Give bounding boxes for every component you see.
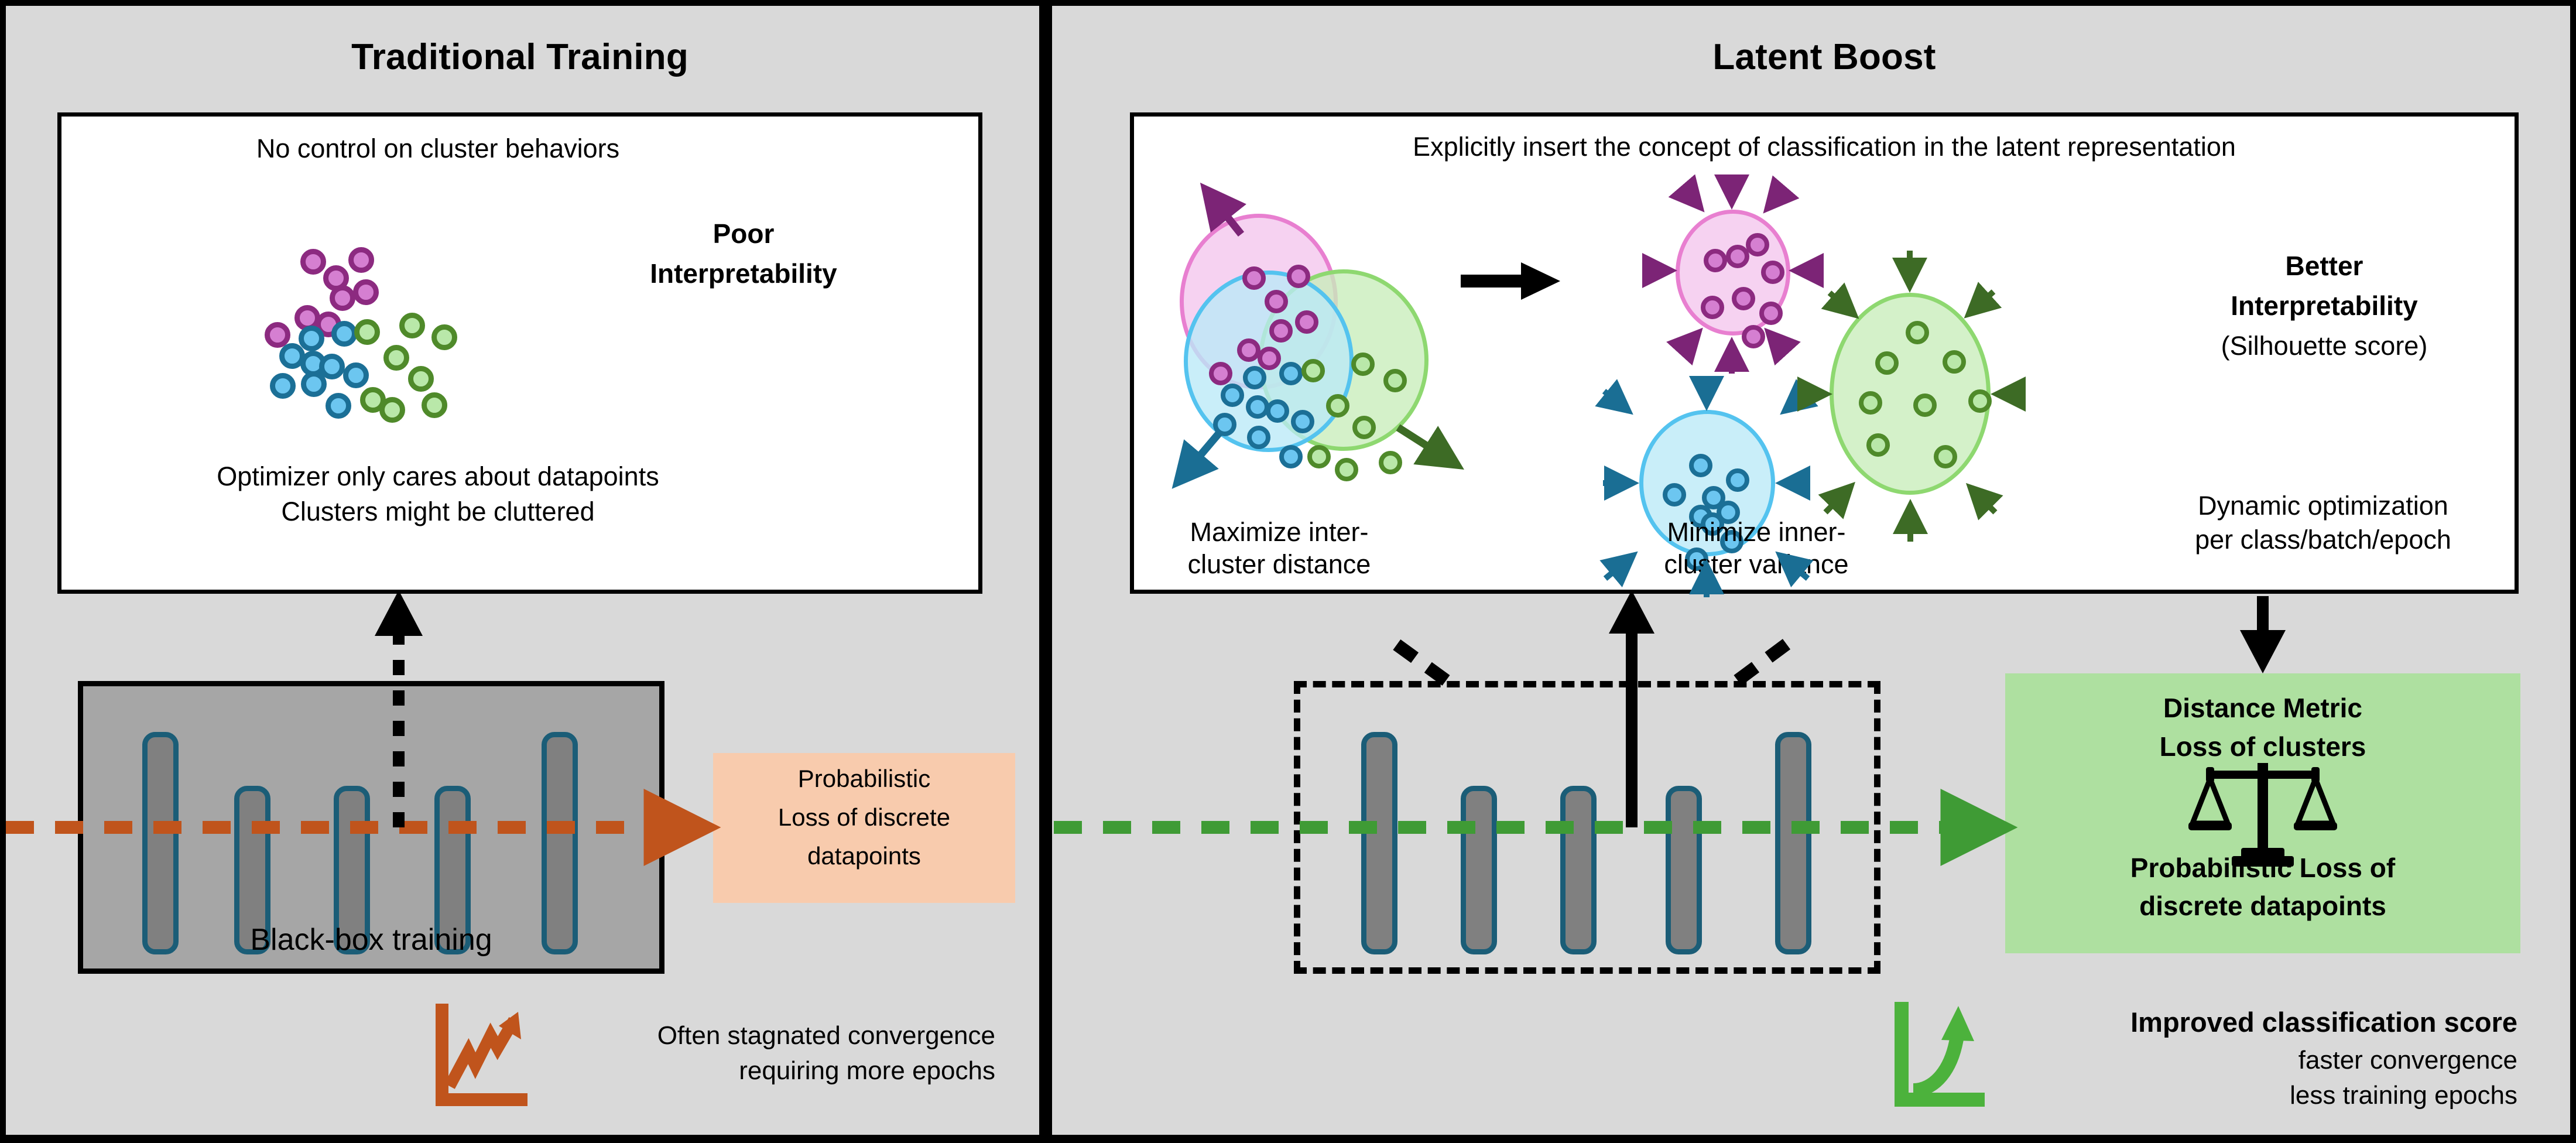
cluster-point xyxy=(1379,451,1402,474)
cluster-point xyxy=(1307,445,1331,468)
right-top-caption: Explicitly insert the concept of classif… xyxy=(1130,130,2519,165)
cluster-point xyxy=(1866,433,1890,457)
network-layer xyxy=(142,732,179,954)
cluster-point xyxy=(1209,362,1232,385)
better-interpretability-line2: Interpretability xyxy=(2137,289,2512,324)
cluster-point xyxy=(1287,265,1310,288)
improved-score-chart-icon xyxy=(1902,1006,1978,1100)
dynamic-optimization-down-arrow xyxy=(2240,596,2286,673)
frame-border-bottom xyxy=(0,1135,2576,1143)
scatter-dot xyxy=(270,373,296,399)
network-layer xyxy=(1361,732,1397,954)
cluster-point xyxy=(1352,416,1376,439)
maximize-label-line2: cluster distance xyxy=(1156,547,1402,582)
cluster-point xyxy=(1383,369,1407,392)
scatter-dot xyxy=(354,319,380,345)
cluster-point xyxy=(1279,445,1303,468)
network-layer xyxy=(1666,786,1702,954)
cluster-point xyxy=(1943,350,1966,374)
scatter-dot xyxy=(301,371,327,397)
cluster-point xyxy=(1351,353,1375,376)
network-layer xyxy=(1560,786,1597,954)
cluster-point xyxy=(1859,391,1882,415)
cluster-point xyxy=(1732,287,1755,310)
scatter-dot xyxy=(399,313,425,338)
dynamic-optimization-line1: Dynamic optimization xyxy=(2124,489,2522,523)
poor-interpretability-line1: Poor xyxy=(591,217,896,252)
black-box-training-label: Black-box training xyxy=(78,922,664,957)
maximize-label-line1: Maximize inter- xyxy=(1156,515,1402,550)
right-note-line2: faster convergence xyxy=(1979,1043,2517,1077)
probabilistic-loss-line1: Probabilistic xyxy=(713,765,1015,793)
scatter-dot xyxy=(300,249,326,275)
figure-root: Traditional Training No control on clust… xyxy=(0,0,2576,1143)
frame-border-left xyxy=(0,0,6,1143)
minimize-label-line2: cluster variance xyxy=(1604,547,1909,582)
cluster-point xyxy=(1759,302,1783,325)
network-layer xyxy=(542,732,578,954)
cluster-point xyxy=(1906,321,1929,344)
cluster-point xyxy=(1761,261,1784,284)
poor-interpretability-line2: Interpretability xyxy=(591,256,896,292)
probabilistic-loss-line4a: discrete datapoints xyxy=(2005,890,2520,922)
scatter-dot xyxy=(331,321,357,347)
cluster-point xyxy=(1221,384,1244,407)
scatter-dot xyxy=(299,326,324,351)
cluster-point xyxy=(1279,362,1303,385)
cluster-point xyxy=(1689,454,1712,477)
cluster-point xyxy=(1663,483,1686,507)
cluster-point xyxy=(1701,296,1724,319)
frame-border-top xyxy=(0,0,2576,6)
cluster-point xyxy=(1258,347,1281,370)
probabilistic-loss-line2: Loss of discrete xyxy=(713,803,1015,831)
cluster-point xyxy=(1295,310,1318,334)
right-note-line1: Improved classification score xyxy=(1979,1004,2517,1041)
cluster-point xyxy=(1301,359,1325,382)
cluster-point xyxy=(1247,426,1270,449)
panel-divider xyxy=(1039,0,1052,1143)
cluster-point xyxy=(1213,413,1236,436)
cluster-point xyxy=(1742,325,1765,348)
better-interpretability-line1: Better xyxy=(2137,249,2512,284)
cluster-point xyxy=(1335,458,1358,481)
cluster-point xyxy=(1269,319,1293,343)
cluster-point xyxy=(1726,468,1749,492)
cluster-point xyxy=(1746,233,1769,256)
network-layer xyxy=(1461,786,1497,954)
probabilistic-loss-line3a: Probabilistic Loss of xyxy=(2005,852,2520,884)
distance-metric-line2: Loss of clusters xyxy=(2005,731,2520,762)
left-top-caption: No control on cluster behaviors xyxy=(57,132,818,166)
scatter-dot xyxy=(326,393,351,419)
cluster-point xyxy=(1875,351,1899,375)
scatter-dot xyxy=(431,324,457,350)
cluster-point xyxy=(1243,366,1266,389)
left-panel-title: Traditional Training xyxy=(57,36,982,78)
cluster-point xyxy=(1265,290,1288,313)
minimize-label-line1: Minimize inner- xyxy=(1604,515,1909,550)
left-bottom-caption-line2: Clusters might be cluttered xyxy=(57,495,818,529)
cluster-point xyxy=(1968,389,1992,413)
scatter-dot xyxy=(353,279,379,305)
cluster-point xyxy=(1237,338,1260,362)
cluster-point xyxy=(1242,266,1266,290)
right-note-line3: less training epochs xyxy=(1979,1079,2517,1113)
left-note-line1: Often stagnated convergence xyxy=(533,1019,995,1053)
distance-metric-line1: Distance Metric xyxy=(2005,692,2520,724)
cluster-point xyxy=(1291,410,1314,433)
scatter-dot xyxy=(408,366,434,392)
cluster-point xyxy=(1934,445,1957,468)
network-layer xyxy=(1775,732,1811,954)
probabilistic-loss-line3: datapoints xyxy=(713,842,1015,870)
cluster-point xyxy=(1704,249,1727,272)
silhouette-score-label: (Silhouette score) xyxy=(2137,329,2512,364)
scatter-dot xyxy=(348,247,374,273)
right-panel-title: Latent Boost xyxy=(1130,36,2519,78)
latent-dashed-callout-marks xyxy=(1386,637,1794,680)
scatter-dot xyxy=(422,392,447,418)
dynamic-optimization-line2: per class/batch/epoch xyxy=(2124,523,2522,557)
scatter-dot xyxy=(383,345,409,371)
scatter-dot xyxy=(330,285,355,311)
cluster-point xyxy=(1913,393,1937,417)
stagnated-convergence-chart-icon xyxy=(442,1010,521,1100)
scatter-dot xyxy=(343,362,369,388)
cluster-point xyxy=(1326,394,1349,417)
cluster-point xyxy=(1266,399,1289,423)
scatter-dot xyxy=(379,397,405,423)
left-bottom-caption-line1: Optimizer only cares about datapoints xyxy=(57,460,818,494)
left-note-line2: requiring more epochs xyxy=(533,1054,995,1088)
frame-border-right xyxy=(2570,0,2576,1143)
